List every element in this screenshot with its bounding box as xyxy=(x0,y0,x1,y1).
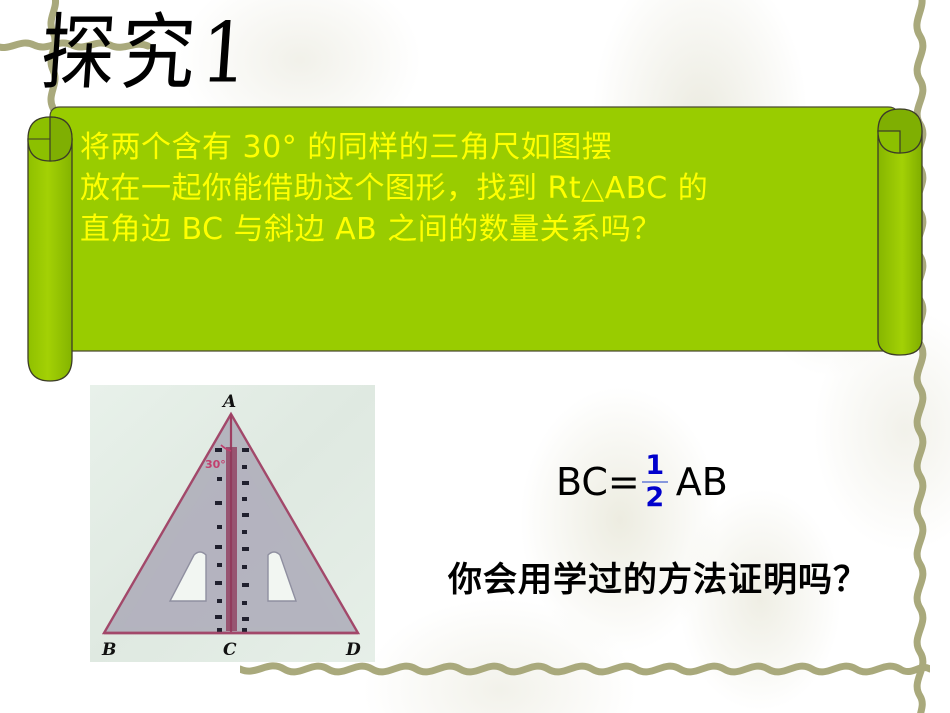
question-prompt: 你会用学过的方法证明吗？ xyxy=(448,552,868,601)
scroll-body-text: 将两个含有 30° 的同样的三角尺如图摆 放在一起你能借助这个图形，找到 Rt△… xyxy=(80,127,900,250)
scroll-line-3: 直角边 BC 与斜边 AB 之间的数量关系吗？ xyxy=(80,209,900,250)
formula-right-side: AB xyxy=(676,463,728,501)
vertex-label-c: C xyxy=(223,640,237,660)
slide-canvas: 探究1 xyxy=(0,0,950,713)
vertex-label-d: D xyxy=(345,640,361,660)
triangle-ruler-figure: 30° xyxy=(90,385,375,662)
scroll-line-1: 将两个含有 30° 的同样的三角尺如图摆 xyxy=(80,127,900,168)
page-title: 探究1 xyxy=(38,12,257,95)
scroll-roll-left xyxy=(28,117,72,381)
vertex-label-b: B xyxy=(101,640,116,660)
scroll-line-2: 放在一起你能借助这个图形，找到 Rt△ABC 的 xyxy=(80,168,900,209)
formula-bc-half-ab: BC= 1 2 AB xyxy=(556,452,728,511)
vertex-label-a: A xyxy=(221,392,236,412)
triangle-ruler-drawing: 30° xyxy=(90,385,375,662)
scroll-banner: 将两个含有 30° 的同样的三角尺如图摆 放在一起你能借助这个图形，找到 Rt△… xyxy=(22,103,928,383)
fraction-denominator: 2 xyxy=(645,483,664,512)
fraction-numerator: 1 xyxy=(645,452,664,481)
formula-left-side: BC= xyxy=(556,463,640,501)
fraction-one-half: 1 2 xyxy=(642,452,668,511)
svg-text:30°: 30° xyxy=(205,458,226,471)
